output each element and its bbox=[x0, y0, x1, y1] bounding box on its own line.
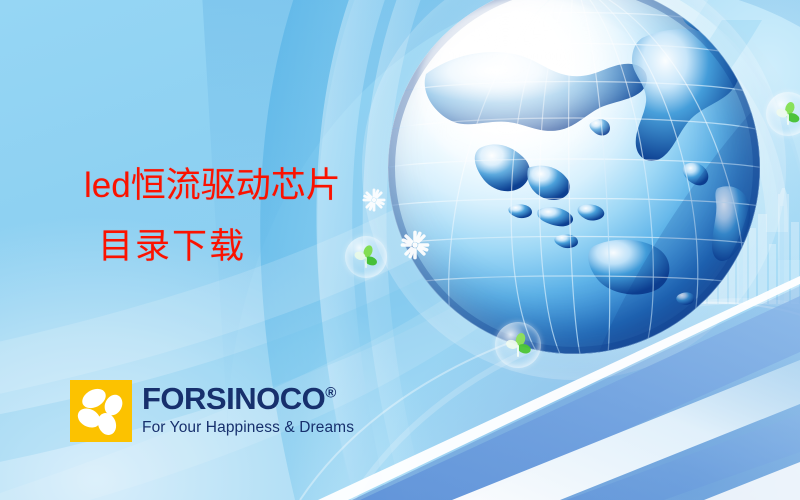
headline-line-1: led恒流驱动芯片 bbox=[84, 168, 341, 204]
pinwheel-flower-icon bbox=[70, 380, 132, 442]
registered-trademark-icon: ® bbox=[325, 385, 336, 402]
brand-logo[interactable]: FORSINOCO® For Your Happiness & Dreams bbox=[70, 380, 354, 442]
promo-banner: led恒流驱动芯片 目录下载 FORSINOCO® For Your Happi… bbox=[0, 0, 800, 500]
headline-latin: led bbox=[84, 166, 131, 205]
headline-line-2: 目录下载 bbox=[98, 230, 341, 265]
logo-tagline: For Your Happiness & Dreams bbox=[142, 419, 354, 437]
headline-cjk: 恒流驱动芯片 bbox=[131, 166, 341, 206]
logo-name: FORSINOCO® bbox=[142, 383, 354, 414]
headline: led恒流驱动芯片 目录下载 bbox=[84, 168, 341, 265]
logo-wordmark: FORSINOCO® For Your Happiness & Dreams bbox=[142, 380, 354, 437]
logo-name-text: FORSINOCO bbox=[142, 381, 325, 416]
